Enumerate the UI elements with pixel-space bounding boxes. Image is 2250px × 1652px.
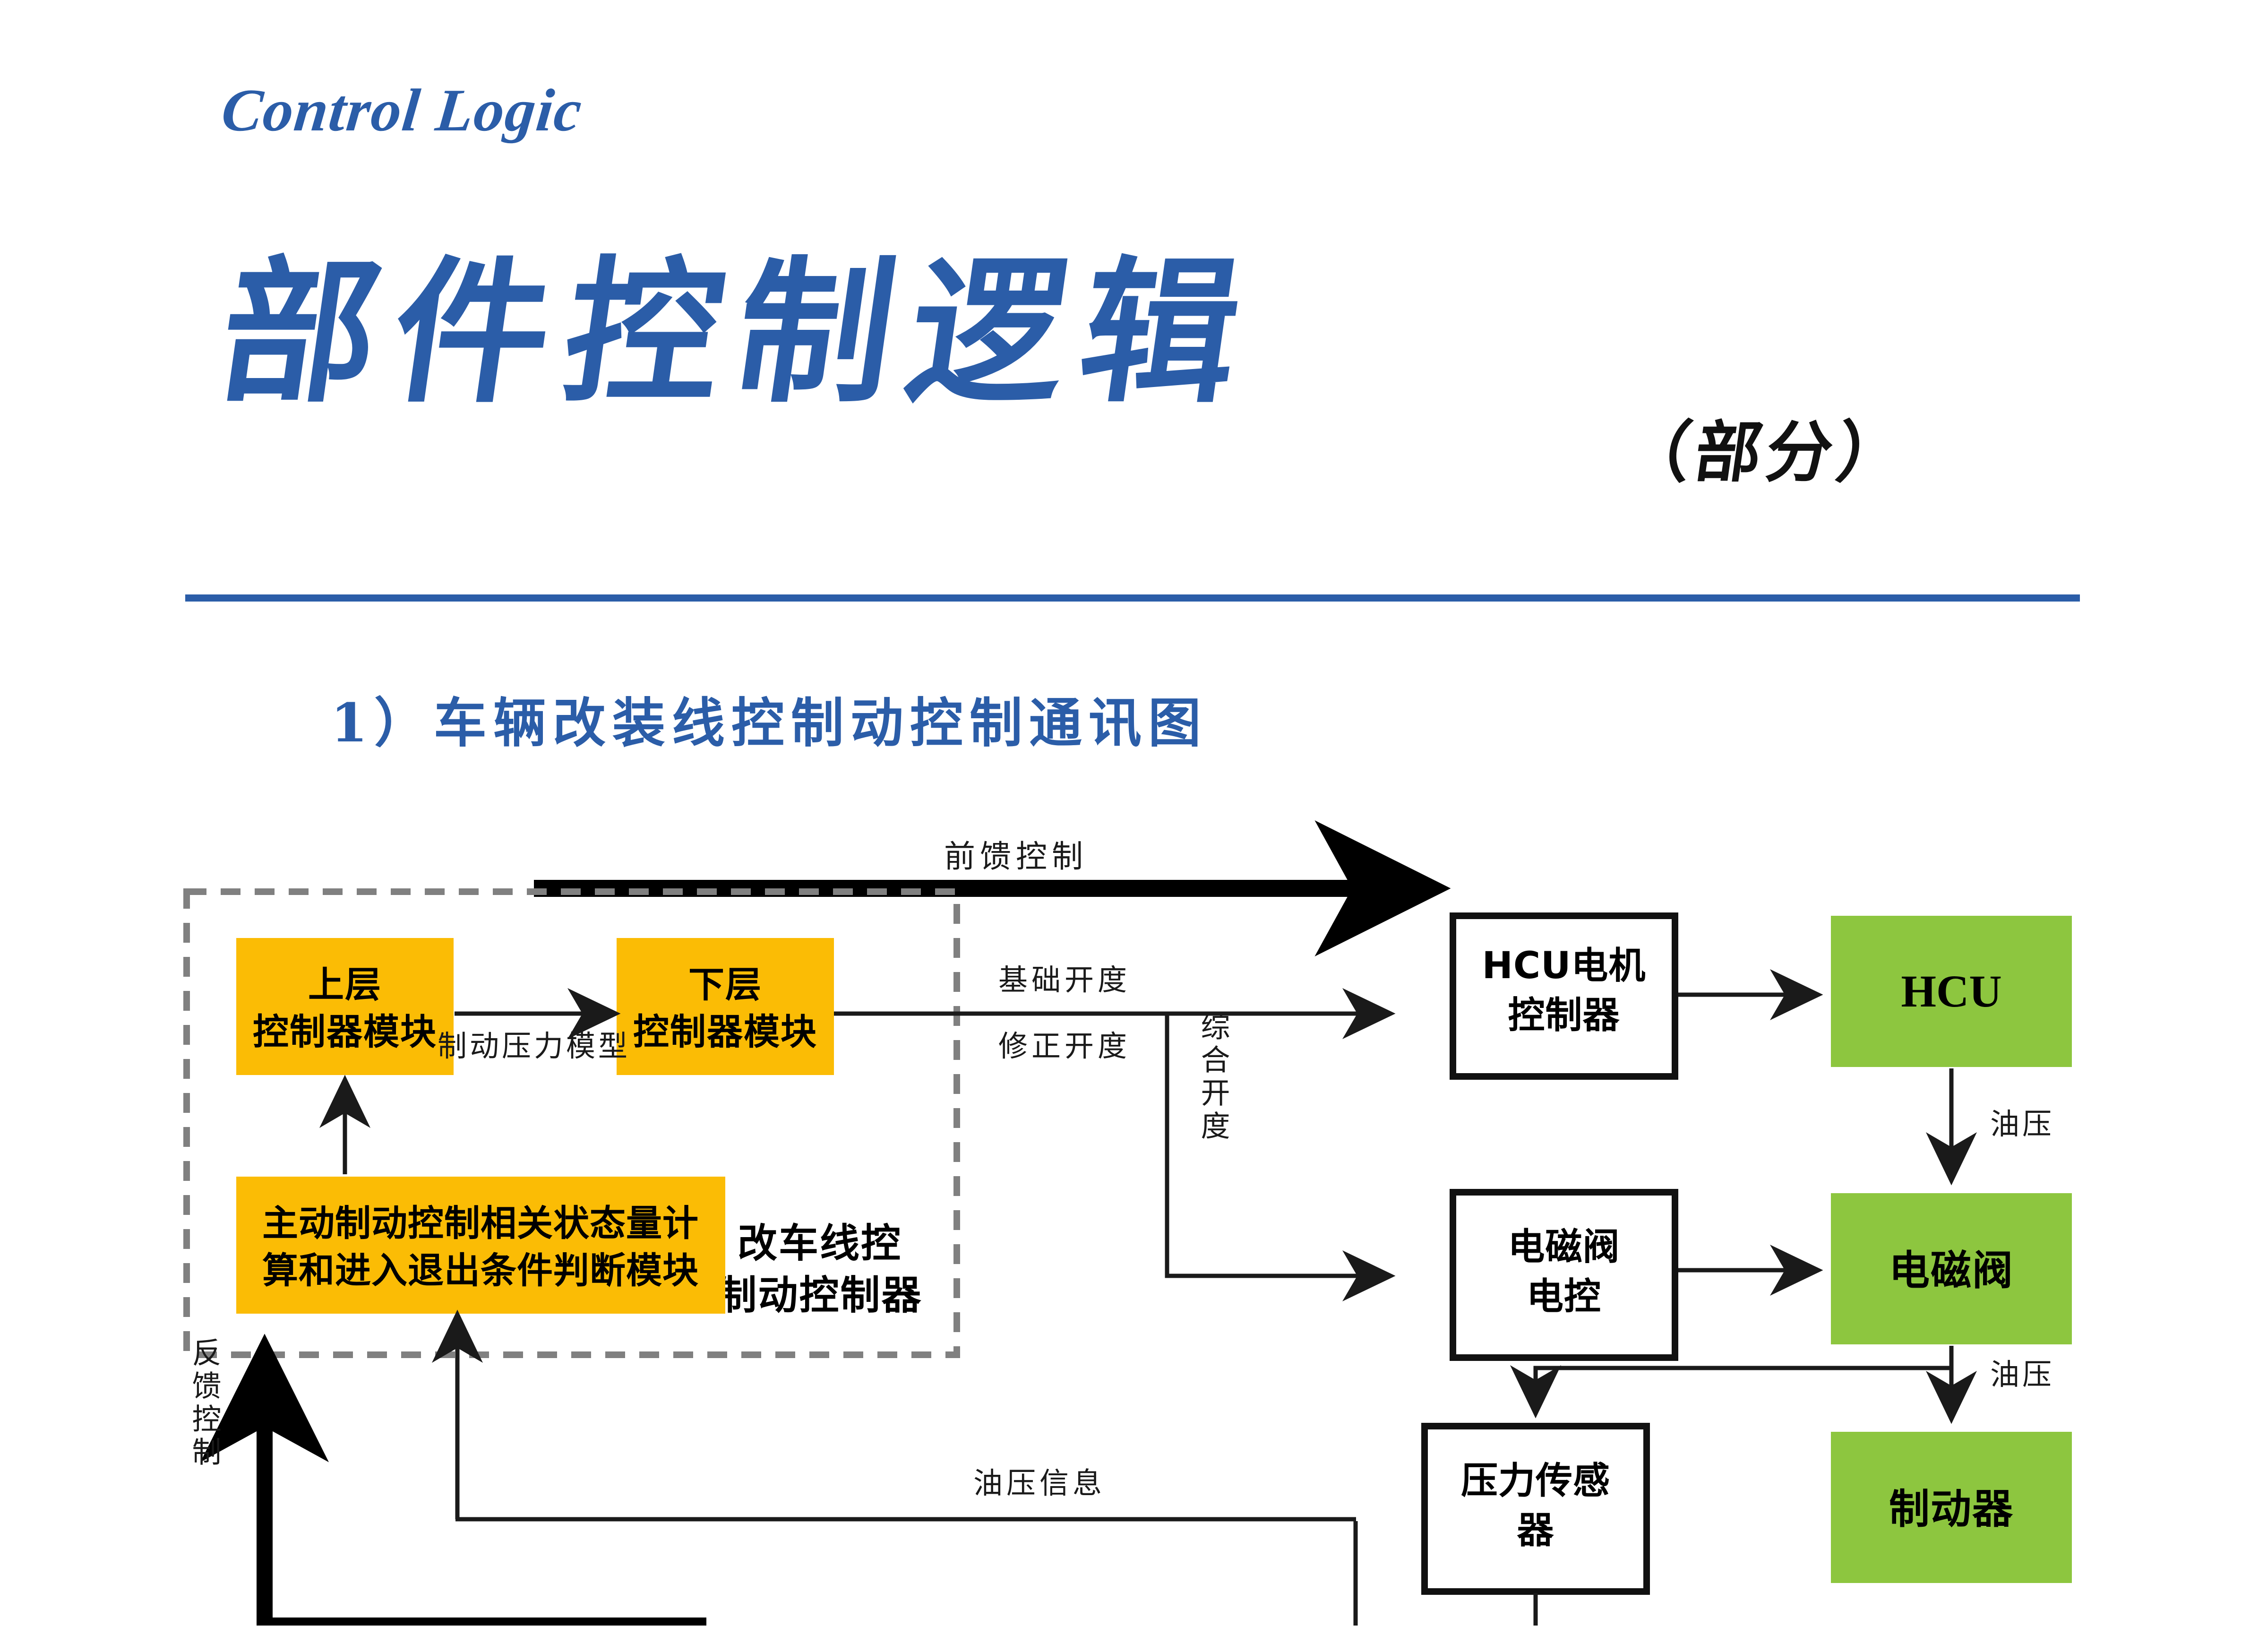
oil-pressure-label-2: 油压 [1990,1357,2054,1392]
section-title: 1）车辆改装线控制动控制通讯图 [331,680,1208,757]
page-kicker: Control Logic [218,76,586,145]
upper-controller-box[interactable] [236,938,454,1075]
hcu-label: HCU [1901,966,2001,1016]
upper-controller-label-1: 上层 [308,964,382,1006]
edge-solenoidvalve-to-pressuresensor [1536,1368,1951,1412]
brake-label: 制动器 [1889,1486,2014,1533]
page-title: 部件控制逻辑 [211,255,1265,411]
title-divider [185,594,2080,602]
pressure-sensor-label-1: 压力传感 [1461,1460,1610,1502]
brake-pressure-model-label: 制动压力模型 [438,1029,630,1063]
lower-controller-box[interactable] [617,938,834,1075]
group-label-line-2: 制动控制器 [717,1272,922,1318]
lower-controller-label-2: 控制器模块 [633,1011,817,1053]
lower-controller-label-1: 下层 [688,964,762,1006]
combined-opening-label: 综合开度 [1196,1011,1230,1144]
hcu-motor-controller-label-1: HCU电机 [1482,945,1646,987]
oil-pressure-label-1: 油压 [1990,1107,2054,1141]
solenoid-ecu-label-1: 电磁阀 [1508,1226,1620,1268]
state-calc-label-2: 算和进入退出条件判断模块 [262,1249,699,1291]
slide-root: Control Logic 部件控制逻辑 （部分） 1）车辆改装线控制动控制通讯… [0,0,2250,1652]
node-solenoid-ecu[interactable]: 电磁阀 电控 [1453,1192,1675,1358]
solenoid-ecu-label-2: 电控 [1527,1275,1601,1318]
node-hcu[interactable]: HCU [1831,916,2072,1067]
feedforward-control-label: 前馈控制 [944,838,1088,875]
group-label-line-1: 改车线控 [738,1220,902,1266]
solenoid-valve-label: 电磁阀 [1889,1247,2014,1294]
node-pressure-sensor[interactable]: 压力传感 器 [1425,1426,1647,1592]
node-lower-controller[interactable]: 下层 控制器模块 [617,938,834,1075]
pressure-sensor-box[interactable] [1425,1426,1647,1592]
upper-controller-label-2: 控制器模块 [253,1011,437,1053]
feedback-arrow-group: 反馈控制 [187,1337,707,1626]
node-hcu-motor-controller[interactable]: HCU电机 控制器 [1453,916,1675,1076]
feedback-control-label: 反馈控制 [187,1337,222,1470]
oil-pressure-info-label: 油压信息 [973,1466,1106,1500]
state-calc-label-1: 主动制动控制相关状态量计 [262,1202,699,1244]
node-upper-controller[interactable]: 上层 控制器模块 [236,938,454,1075]
node-brake[interactable]: 制动器 [1831,1432,2072,1583]
feedforward-arrow-group: 前馈控制 [534,838,1427,888]
hcu-motor-controller-label-2: 控制器 [1508,994,1620,1037]
state-calc-box[interactable] [236,1177,725,1314]
feedback-arrow [265,1356,706,1626]
node-state-calc-module[interactable]: 主动制动控制相关状态量计 算和进入退出条件判断模块 [236,1177,725,1314]
solenoid-ecu-box[interactable] [1453,1192,1675,1358]
node-solenoid-valve[interactable]: 电磁阀 [1831,1193,2072,1344]
pressure-sensor-label-2: 器 [1517,1509,1554,1552]
control-communication-diagram: 前馈控制 改车线控 制动控制器 上层 控制器模块 下层 控制器模块 制动压力模型 [0,775,2250,1626]
page-title-note: （部分） [1619,399,1915,495]
base-opening-label: 基础开度 [998,963,1131,997]
correction-opening-label: 修正开度 [998,1029,1131,1063]
